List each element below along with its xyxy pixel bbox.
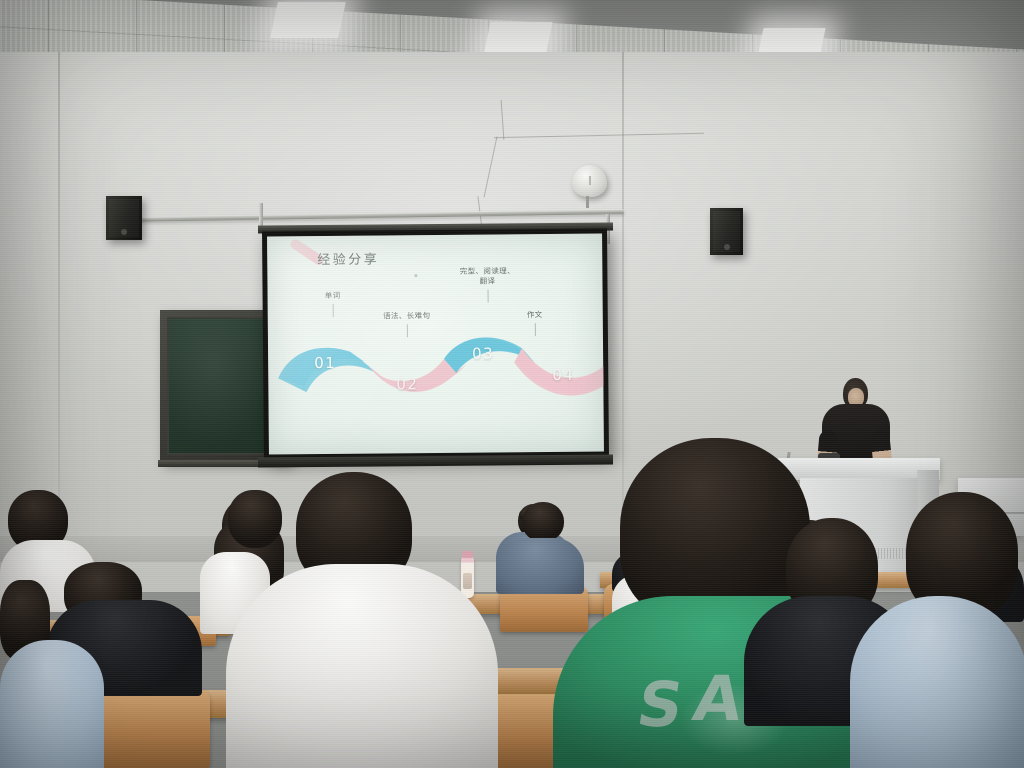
water-bottle-label xyxy=(463,573,472,589)
step-label-01-text: 单词 xyxy=(325,291,341,300)
step-stem-03 xyxy=(487,290,488,303)
step-number-02: 02 xyxy=(396,375,418,393)
step-label-03-line1: 完型、阅读理、 xyxy=(460,266,515,275)
dome-antenna xyxy=(589,176,591,185)
audience-body-left-3 xyxy=(0,640,104,768)
speaker-driver-dot xyxy=(724,244,730,250)
ceiling-light-2 xyxy=(483,22,552,56)
wave-infographic: 01 02 03 04 xyxy=(276,334,604,407)
speaker-driver-dot xyxy=(121,229,127,235)
left-wall-speaker xyxy=(106,196,142,240)
step-label-03-line2: 翻译 xyxy=(480,276,496,285)
wall-seam-left xyxy=(58,52,60,522)
wall-seam-right xyxy=(622,52,624,522)
dome-mount-stem xyxy=(586,196,589,208)
audience-body-right-2 xyxy=(850,596,1024,768)
slide-dot-marker xyxy=(414,274,417,277)
step-number-03: 03 xyxy=(472,344,494,362)
step-label-02-text: 语法、长难句 xyxy=(383,311,430,320)
slide-title: 经验分享 xyxy=(317,248,379,268)
classroom-photo: 经验分享 单词 语法、长难句 完型、阅读理、 翻译 作文 xyxy=(0,0,1024,768)
step-label-04: 作文 xyxy=(500,310,570,337)
step-label-02: 语法、长难句 xyxy=(358,311,456,338)
audience-body-glasses xyxy=(496,538,584,594)
podium-top xyxy=(778,458,940,480)
presentation-slide: 经验分享 单词 语法、长难句 完型、阅读理、 翻译 作文 xyxy=(267,234,604,455)
audience-head-glasses xyxy=(522,502,564,542)
step-number-01: 01 xyxy=(314,354,336,372)
ceiling-light-1 xyxy=(270,2,346,38)
step-label-04-text: 作文 xyxy=(527,310,543,319)
projection-screen: 经验分享 单词 语法、长难句 完型、阅读理、 翻译 作文 xyxy=(262,228,609,459)
step-label-03: 完型、阅读理、 翻译 xyxy=(427,266,547,303)
audience-body-center xyxy=(226,564,498,768)
water-bottle-cap xyxy=(462,551,473,558)
step-number-04: 04 xyxy=(552,366,574,384)
audience-head-left-5 xyxy=(228,490,282,548)
step-stem-01 xyxy=(332,304,333,317)
right-wall-speaker xyxy=(710,208,743,255)
